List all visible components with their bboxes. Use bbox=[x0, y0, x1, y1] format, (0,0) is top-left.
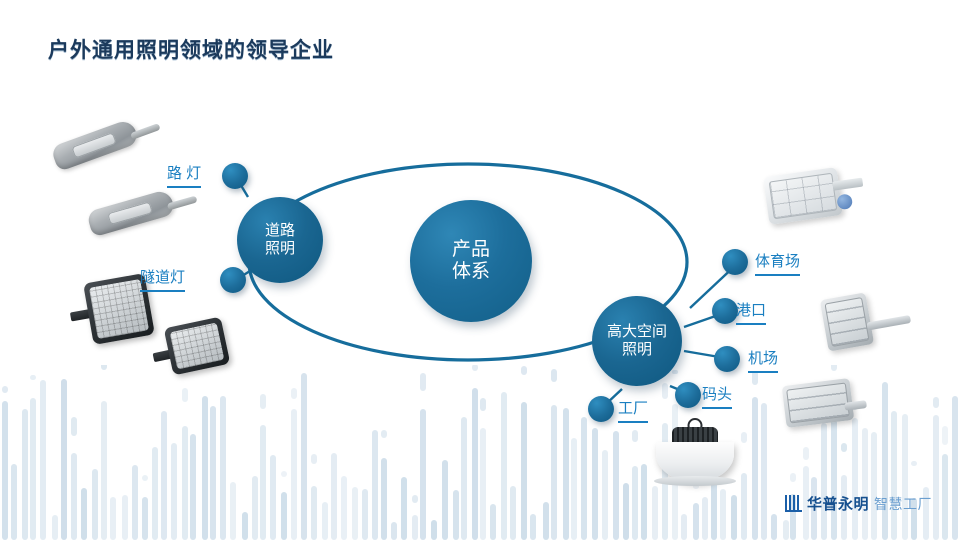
node-road-lighting[interactable]: 道路 照明 bbox=[237, 197, 323, 283]
node-high-line1: 高大空间 bbox=[607, 323, 667, 341]
logo-mark-icon bbox=[785, 495, 802, 512]
label-street-light[interactable]: 路 灯 bbox=[167, 162, 201, 188]
bullet-airport[interactable] bbox=[714, 346, 740, 372]
logo-subtitle: 智慧工厂 bbox=[874, 494, 932, 514]
bullet-tunnel-light[interactable] bbox=[220, 267, 246, 293]
bullet-street-light[interactable] bbox=[222, 163, 248, 189]
bullet-stadium[interactable] bbox=[722, 249, 748, 275]
company-logo: 华普永明 智慧工厂 bbox=[785, 493, 932, 514]
node-center-line1: 产品 bbox=[452, 239, 490, 261]
label-port[interactable]: 港口 bbox=[736, 299, 766, 325]
node-high-line2: 照明 bbox=[607, 341, 667, 359]
bullet-wharf[interactable] bbox=[675, 382, 701, 408]
slide-canvas: 户外通用照明领域的领导企业 bbox=[0, 0, 960, 540]
page-title: 户外通用照明领域的领导企业 bbox=[48, 34, 334, 64]
node-road-line1: 道路 bbox=[265, 222, 295, 240]
logo-name: 华普永明 bbox=[807, 493, 869, 514]
label-factory[interactable]: 工厂 bbox=[618, 397, 648, 423]
node-product-system[interactable]: 产品 体系 bbox=[410, 200, 532, 322]
label-tunnel-light[interactable]: 隧道灯 bbox=[140, 266, 185, 292]
label-stadium[interactable]: 体育场 bbox=[755, 250, 800, 276]
node-center-line2: 体系 bbox=[452, 261, 490, 283]
bullet-port[interactable] bbox=[712, 298, 738, 324]
node-road-line2: 照明 bbox=[265, 240, 295, 258]
label-wharf[interactable]: 码头 bbox=[702, 383, 732, 409]
node-high-space-lighting[interactable]: 高大空间 照明 bbox=[592, 296, 682, 386]
label-airport[interactable]: 机场 bbox=[748, 347, 778, 373]
bullet-factory[interactable] bbox=[588, 396, 614, 422]
